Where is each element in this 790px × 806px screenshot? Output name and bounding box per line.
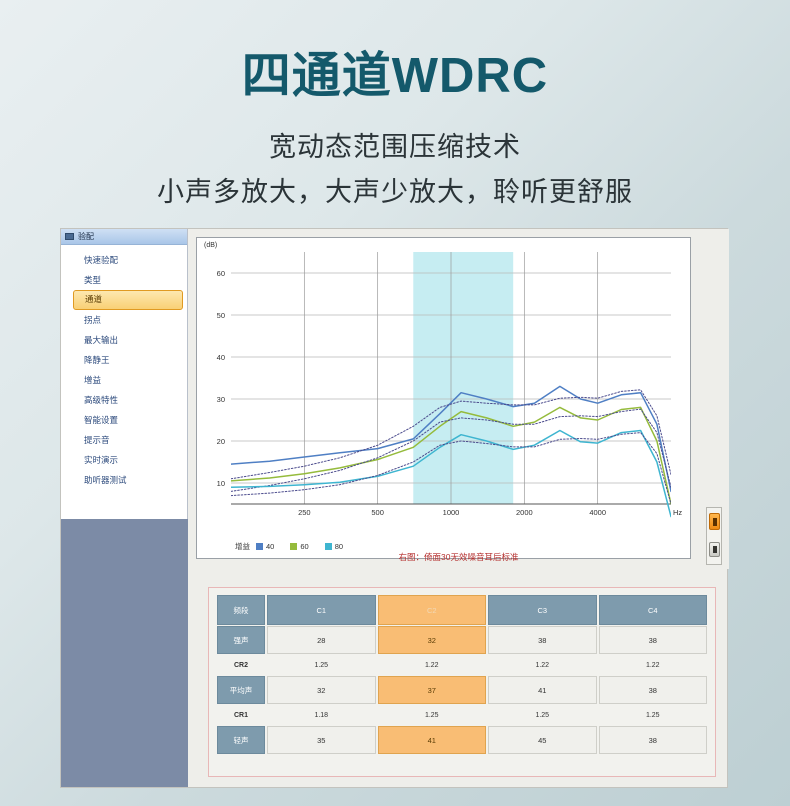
sidebar-item-list: 快速验配类型通道拐点最大输出降静王增益高级特性智能设置提示音实时演示助听器测试 — [61, 245, 187, 490]
x-axis-unit-label: Hz — [673, 508, 682, 517]
table-cell[interactable]: 32 — [267, 676, 376, 704]
table-row: 轻声35414538 — [217, 726, 707, 754]
legend-label: 60 — [300, 542, 308, 551]
chart-unit-label: (dB) — [204, 242, 217, 249]
table-cell[interactable]: 1.22 — [599, 655, 708, 675]
legend-title: 增益 — [235, 541, 250, 552]
sidebar-item-8[interactable]: 智能设置 — [61, 410, 187, 430]
table-cell[interactable]: 38 — [599, 626, 708, 654]
table-row: 强声28323838 — [217, 626, 707, 654]
table-column-header-C4[interactable]: C4 — [599, 595, 708, 625]
table-column-header-C1[interactable]: C1 — [267, 595, 376, 625]
table-cell[interactable]: 28 — [267, 626, 376, 654]
sidebar-item-5[interactable]: 降静王 — [61, 350, 187, 370]
chart-container: (dB) 605040302010250500100020004000Hz 增益… — [196, 237, 691, 559]
table-cell[interactable]: 1.22 — [378, 655, 487, 675]
table-cell[interactable]: 1.25 — [488, 705, 597, 725]
table-cell[interactable]: 1.22 — [488, 655, 597, 675]
channel-parameters-table: 频段C1C2C3C4强声28323838CR21.251.221.221.22平… — [215, 594, 709, 755]
legend-entry-40[interactable]: 40 — [256, 542, 274, 551]
table-cell[interactable]: 38 — [599, 726, 708, 754]
sidebar-item-3[interactable]: 拐点 — [61, 310, 187, 330]
page-title: 四通道WDRC — [0, 52, 790, 101]
table-cell[interactable]: 45 — [488, 726, 597, 754]
table-column-header-C3[interactable]: C3 — [488, 595, 597, 625]
legend-swatch-icon — [256, 543, 263, 550]
table-cell[interactable]: 41 — [378, 726, 487, 754]
page-subtitle: 宽动态范围压缩技术 — [0, 125, 790, 164]
table-cell[interactable]: 1.18 — [267, 705, 376, 725]
table-row-label-平均声: 平均声 — [217, 676, 265, 704]
sidebar-header: 验配 — [61, 229, 187, 245]
sidebar-menu-panel: 验配 快速验配类型通道拐点最大输出降静王增益高级特性智能设置提示音实时演示助听器… — [61, 229, 188, 519]
sidebar-item-2[interactable]: 通道 — [73, 290, 183, 310]
table-row: CR11.181.251.251.25 — [217, 705, 707, 725]
legend-swatch-icon — [290, 543, 297, 550]
gain-slider-handle-active[interactable] — [709, 513, 720, 530]
table-cell[interactable]: 1.25 — [599, 705, 708, 725]
sidebar: 验配 快速验配类型通道拐点最大输出降静王增益高级特性智能设置提示音实时演示助听器… — [61, 229, 188, 787]
sidebar-header-label: 验配 — [78, 231, 94, 242]
page-subtitle-secondary: 小声多放大，大声少放大，聆听更舒服 — [0, 170, 790, 209]
x-tick-1000: 1000 — [431, 508, 471, 517]
legend-label: 80 — [335, 542, 343, 551]
hero-banner: 四通道WDRC 宽动态范围压缩技术 小声多放大，大声少放大，聆听更舒服 — [0, 0, 790, 226]
table-row: CR21.251.221.221.22 — [217, 655, 707, 675]
y-tick-20: 20 — [205, 437, 225, 446]
table-cell[interactable]: 38 — [488, 626, 597, 654]
sidebar-item-10[interactable]: 实时演示 — [61, 450, 187, 470]
table-row-label-轻声: 轻声 — [217, 726, 265, 754]
table-cell[interactable]: 32 — [378, 626, 487, 654]
sidebar-item-1[interactable]: 类型 — [61, 270, 187, 290]
y-tick-50: 50 — [205, 311, 225, 320]
x-tick-500: 500 — [358, 508, 398, 517]
table-cell[interactable]: 35 — [267, 726, 376, 754]
x-tick-2000: 2000 — [504, 508, 544, 517]
legend-swatch-icon — [325, 543, 332, 550]
y-tick-40: 40 — [205, 353, 225, 362]
table-cell[interactable]: 41 — [488, 676, 597, 704]
y-tick-30: 30 — [205, 395, 225, 404]
fitting-icon — [65, 233, 74, 240]
table-row: 平均声32374138 — [217, 676, 707, 704]
legend-label: 40 — [266, 542, 274, 551]
sidebar-item-9[interactable]: 提示音 — [61, 430, 187, 450]
legend-entry-80[interactable]: 80 — [325, 542, 343, 551]
x-tick-4000: 4000 — [578, 508, 618, 517]
table-cell[interactable]: 38 — [599, 676, 708, 704]
sidebar-item-6[interactable]: 增益 — [61, 370, 187, 390]
sidebar-item-0[interactable]: 快速验配 — [61, 250, 187, 270]
sidebar-item-4[interactable]: 最大输出 — [61, 330, 187, 350]
channel-parameters-panel: 频段C1C2C3C4强声28323838CR21.251.221.221.22平… — [208, 587, 716, 777]
chart-note: 右图：倚面30无效噪音耳后标准 — [188, 551, 729, 563]
table-corner-label: 频段 — [217, 595, 265, 625]
sidebar-item-11[interactable]: 助听器测试 — [61, 470, 187, 490]
table-row-label-CR2: CR2 — [217, 655, 265, 675]
table-cell[interactable]: 37 — [378, 676, 487, 704]
table-cell[interactable]: 1.25 — [378, 705, 487, 725]
gain-frequency-plot[interactable] — [231, 252, 671, 524]
gain-slider-handle-inactive[interactable] — [709, 542, 720, 557]
y-tick-10: 10 — [205, 479, 225, 488]
table-cell[interactable]: 1.25 — [267, 655, 376, 675]
table-header-row: 频段C1C2C3C4 — [217, 595, 707, 625]
x-tick-250: 250 — [284, 508, 324, 517]
table-row-label-CR1: CR1 — [217, 705, 265, 725]
application-window: 验配 快速验配类型通道拐点最大输出降静王增益高级特性智能设置提示音实时演示助听器… — [60, 228, 728, 788]
table-row-label-强声: 强声 — [217, 626, 265, 654]
table-column-header-C2[interactable]: C2 — [378, 595, 487, 625]
chart-panel: (dB) 605040302010250500100020004000Hz 增益… — [188, 229, 729, 569]
legend-entry-60[interactable]: 60 — [290, 542, 308, 551]
sidebar-item-7[interactable]: 高级特性 — [61, 390, 187, 410]
y-tick-60: 60 — [205, 269, 225, 278]
